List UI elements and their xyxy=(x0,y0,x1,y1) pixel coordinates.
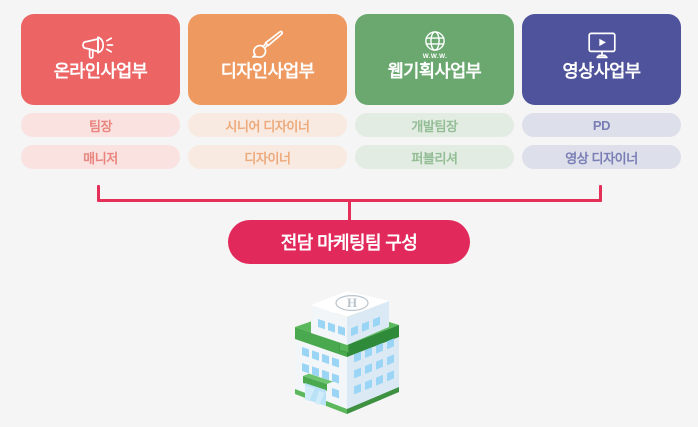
role-label: 영상 디자이너 xyxy=(565,148,638,167)
department-column-online: 온라인사업부 팀장 매니저 xyxy=(21,14,180,169)
role-pill[interactable]: 퍼블리셔 xyxy=(355,145,514,169)
role-label: 매니저 xyxy=(83,148,118,167)
role-pill[interactable]: 영상 디자이너 xyxy=(522,145,681,169)
department-card-web[interactable]: W.W.W. 웹기획사업부 xyxy=(355,14,514,105)
department-card-design[interactable]: 디자인사업부 xyxy=(188,14,347,105)
department-column-video: 영상사업부 PD 영상 디자이너 xyxy=(522,14,681,169)
department-title: 디자인사업부 xyxy=(221,63,315,81)
helipad-letter: H xyxy=(347,295,357,310)
role-label: PD xyxy=(593,118,610,133)
department-title: 온라인사업부 xyxy=(54,63,148,81)
megaphone-icon xyxy=(21,28,180,62)
department-title: 웹기획사업부 xyxy=(388,63,482,81)
role-label: 디자이너 xyxy=(244,148,290,167)
role-label: 팀장 xyxy=(89,116,112,135)
paintbrush-icon xyxy=(188,28,347,62)
org-chart-diagram: 온라인사업부 팀장 매니저 디자인사업부 시니어 디자이너 디자이너 xyxy=(0,0,698,427)
role-label: 개발팀장 xyxy=(411,116,457,135)
role-label: 퍼블리셔 xyxy=(411,148,457,167)
globe-www-label: W.W.W. xyxy=(422,53,446,60)
www-globe-icon: W.W.W. xyxy=(355,28,514,62)
result-label: 전담 마케팅팀 구성 xyxy=(281,229,417,255)
role-pill[interactable]: PD xyxy=(522,113,681,137)
hospital-building-illustration: H xyxy=(269,281,429,421)
result-pill[interactable]: 전담 마케팅팀 구성 xyxy=(228,220,470,264)
role-label: 시니어 디자이너 xyxy=(225,116,309,135)
department-column-web: W.W.W. 웹기획사업부 개발팀장 퍼블리셔 xyxy=(355,14,514,169)
role-pill[interactable]: 개발팀장 xyxy=(355,113,514,137)
role-pill[interactable]: 매니저 xyxy=(21,145,180,169)
monitor-play-icon xyxy=(522,28,681,62)
role-pill[interactable]: 팀장 xyxy=(21,113,180,137)
department-card-online[interactable]: 온라인사업부 xyxy=(21,14,180,105)
role-pill[interactable]: 시니어 디자이너 xyxy=(188,113,347,137)
department-title: 영상사업부 xyxy=(563,63,641,81)
department-column-design: 디자인사업부 시니어 디자이너 디자이너 xyxy=(188,14,347,169)
role-pill[interactable]: 디자이너 xyxy=(188,145,347,169)
department-card-video[interactable]: 영상사업부 xyxy=(522,14,681,105)
